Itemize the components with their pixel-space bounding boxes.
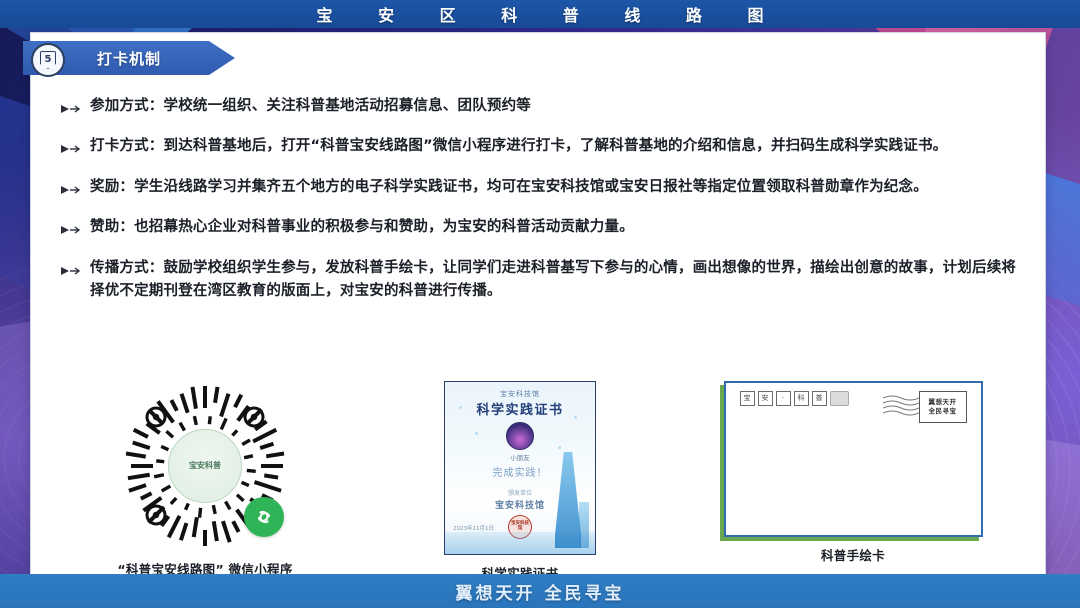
footer-bar: 翼想天开 全民寻宝 xyxy=(0,574,1080,608)
arrow-bullet-icon xyxy=(61,261,81,280)
figure-qr-code: 宝安科普 “科普宝安线路图” 微信小程序 xyxy=(55,381,355,578)
arrow-bullet-icon xyxy=(61,99,81,118)
postcard-smudge-icon xyxy=(830,391,849,406)
postcard-image: 宝 安 · 科 普 翼想天开 全民寻宝 xyxy=(724,381,983,537)
figure-postcard: 宝 安 · 科 普 翼想天开 全民寻宝 xyxy=(685,381,1021,564)
postcard-box: · xyxy=(776,391,791,406)
stamp-line-1: 翼想天开 xyxy=(929,399,957,406)
certificate-date: 2023年11月1日 xyxy=(453,524,494,532)
postcard-box: 科 xyxy=(794,391,809,406)
list-item-text: 传播方式：鼓励学校组织学生参与，发放科普手绘卡，让同学们走进科普基写下参与的心情… xyxy=(90,257,1017,304)
arrow-bullet-icon xyxy=(61,180,81,199)
arrow-bullet-icon xyxy=(61,220,81,239)
postcard-address-boxes: 宝 安 · 科 普 xyxy=(740,391,849,406)
section-title: 打卡机制 xyxy=(97,48,161,69)
postcard-box: 普 xyxy=(812,391,827,406)
footer-slogan: 翼想天开 全民寻宝 xyxy=(456,579,625,604)
content-card: 打卡机制 5 参加方式：学校统一组织、关注科普基地活动招募信息、团队预约等 xyxy=(30,32,1046,576)
wechat-miniprogram-icon xyxy=(244,497,284,537)
qr-center-logo-text: 宝安科普 xyxy=(189,461,221,470)
list-item-text: 奖励：学生沿线路学习并集齐五个地方的电子科学实践证书，均可在宝安科技馆或宝安日报… xyxy=(90,176,928,199)
certificate-avatar xyxy=(506,422,534,450)
list-item-text: 打卡方式：到达科普基地后，打开“科普宝安线路图”微信小程序进行打卡，了解科普基地… xyxy=(90,135,947,158)
list-item: 赞助：也招幕热心企业对科普事业的积极参与和赞助，为宝安的科普活动贡献力量。 xyxy=(61,216,1017,239)
arrow-bullet-icon xyxy=(61,139,81,158)
stamp-line-2: 全民寻宝 xyxy=(929,408,957,415)
list-item: 打卡方式：到达科普基地后，打开“科普宝安线路图”微信小程序进行打卡，了解科普基地… xyxy=(61,135,1017,158)
postmark-waves-icon xyxy=(883,394,919,416)
qr-code-image[interactable]: 宝安科普 xyxy=(120,381,290,551)
page-title: 宝 安 区 科 普 线 路 图 xyxy=(297,2,784,26)
list-item-text: 赞助：也招幕热心企业对科普事业的积极参与和赞助，为宝安的科普活动贡献力量。 xyxy=(90,216,634,239)
section-number-badge: 5 xyxy=(31,43,65,77)
postcard-box: 安 xyxy=(758,391,773,406)
qr-center-logo: 宝安科普 xyxy=(168,429,242,503)
list-item: 奖励：学生沿线路学习并集齐五个地方的电子科学实践证书，均可在宝安科技馆或宝安日报… xyxy=(61,176,1017,199)
postcard-stamp: 翼想天开 全民寻宝 xyxy=(919,391,967,423)
certificate-title: 科学实践证书 xyxy=(445,399,595,418)
certificate-image: 宝安科技馆 科学实践证书 小朋友 完成实践！ 颁发单位 宝安科技馆 宝安科技馆 … xyxy=(444,381,596,555)
postcard-box: 宝 xyxy=(740,391,755,406)
title-bar: 宝 安 区 科 普 线 路 图 xyxy=(0,0,1080,28)
figure-caption: 科普手绘卡 xyxy=(821,545,885,564)
section-header: 打卡机制 5 xyxy=(23,41,235,75)
figure-row: 宝安科普 “科普宝安线路图” 微信小程序 xyxy=(55,381,1021,566)
figure-certificate: 宝安科技馆 科学实践证书 小朋友 完成实践！ 颁发单位 宝安科技馆 宝安科技馆 … xyxy=(355,381,685,582)
list-item: 参加方式：学校统一组织、关注科普基地活动招募信息、团队预约等 xyxy=(61,95,1017,118)
shield-icon: 5 xyxy=(40,51,56,69)
bullet-list: 参加方式：学校统一组织、关注科普基地活动招募信息、团队预约等 打卡方式：到达科普… xyxy=(61,95,1017,304)
list-item: 传播方式：鼓励学校组织学生参与，发放科普手绘卡，让同学们走进科普基写下参与的心情… xyxy=(61,257,1017,304)
certificate-org-small: 宝安科技馆 xyxy=(445,389,595,399)
list-item-text: 参加方式：学校统一组织、关注科普基地活动招募信息、团队预约等 xyxy=(90,95,531,118)
slide-root: 宝 安 区 科 普 线 路 图 打卡机制 5 参 xyxy=(0,0,1080,608)
